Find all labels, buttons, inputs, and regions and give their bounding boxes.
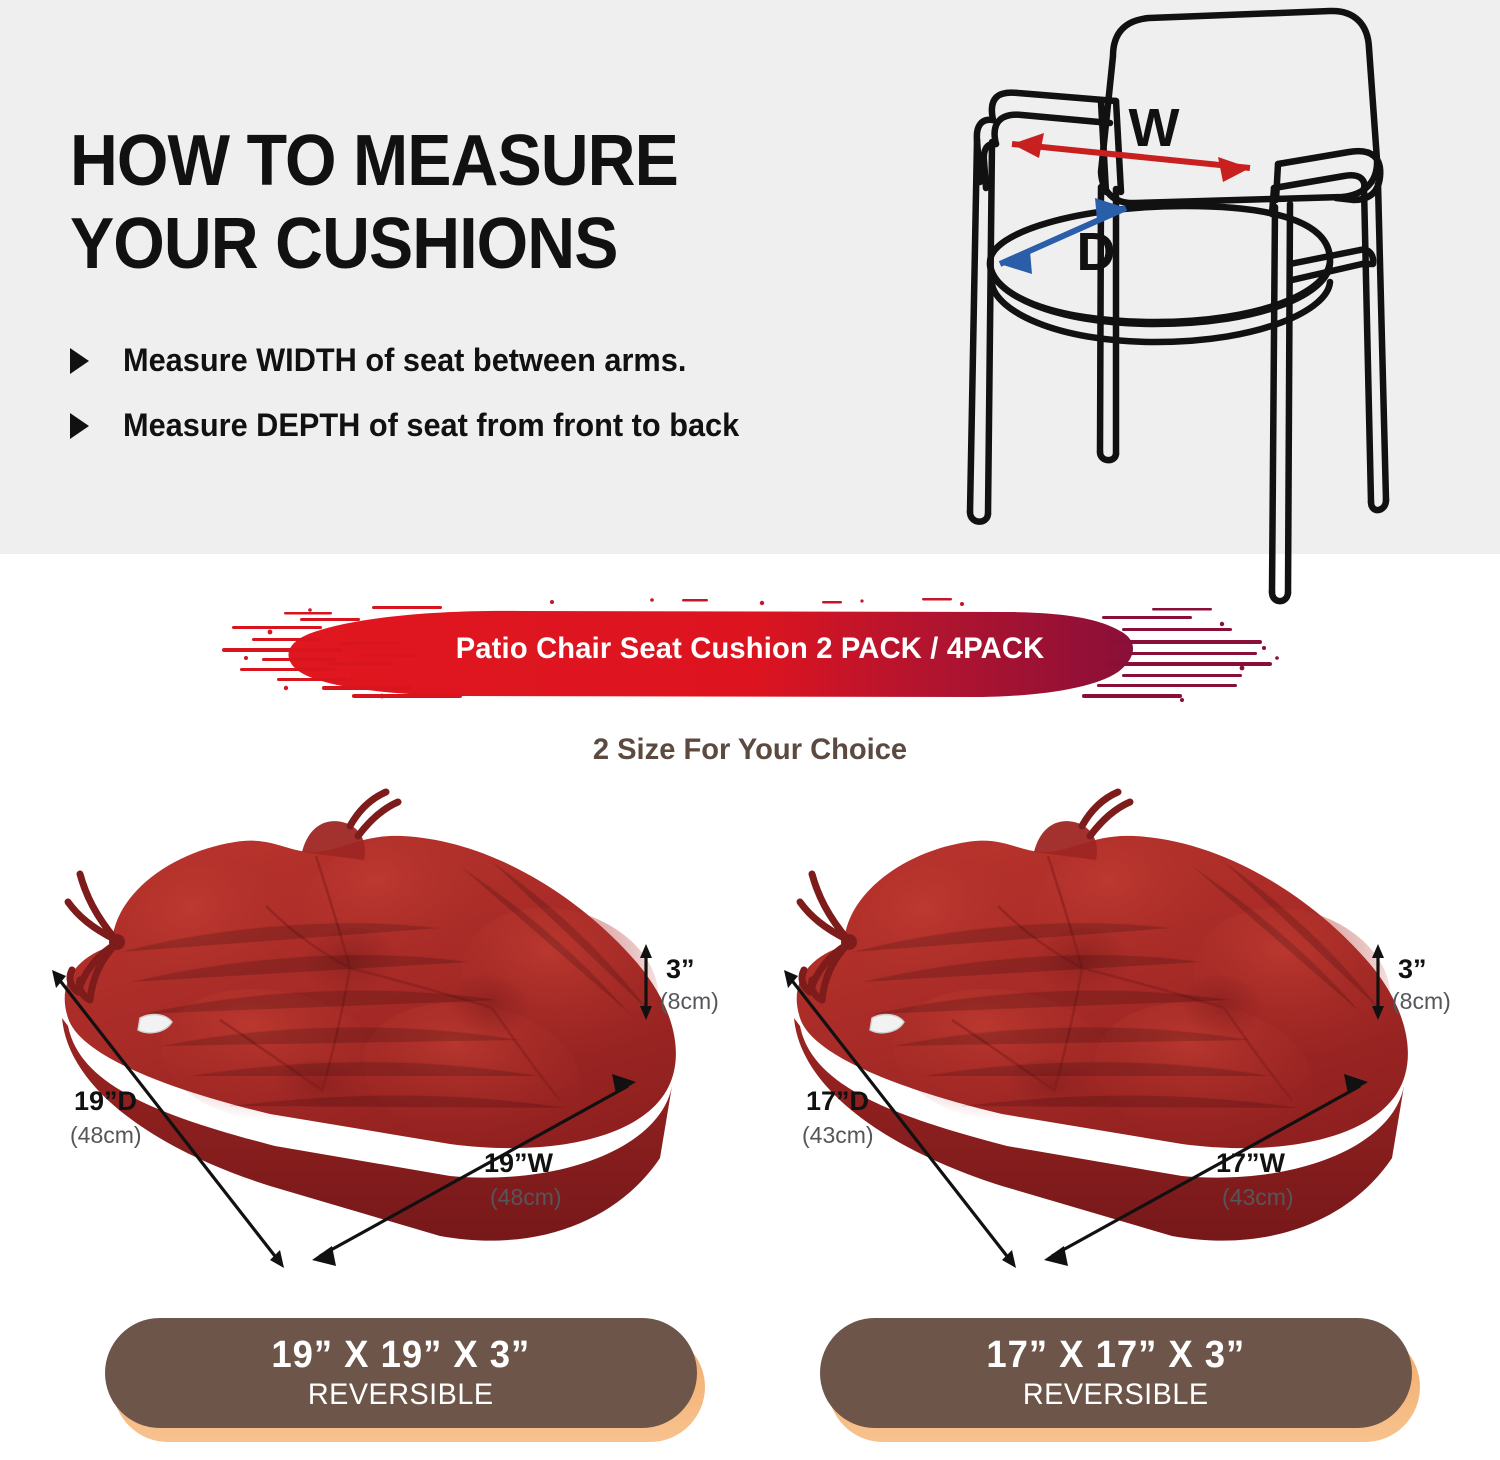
chair-measurement-diagram: W D xyxy=(930,0,1500,612)
triangle-bullet-icon xyxy=(70,413,89,439)
product-card-17inch: 3” (8cm) 17”W (43cm) 17”D (43cm) xyxy=(752,756,1492,1286)
triangle-bullet-icon xyxy=(70,348,89,374)
instruction-list: Measure WIDTH of seat between arms. Meas… xyxy=(70,342,900,444)
depth-label: 19”D xyxy=(74,1086,137,1117)
height-label: 3” xyxy=(666,954,695,985)
height-metric: (8cm) xyxy=(660,988,719,1015)
hero-text-block: HOW TO MEASURE YOUR CUSHIONS Measure WID… xyxy=(70,120,900,472)
banner-title: Patio Chair Seat Cushion 2 PACK / 4PACK xyxy=(23,632,1478,666)
width-letter-label: W xyxy=(1129,98,1180,158)
size-text: 17” X 17” X 3” xyxy=(987,1333,1246,1377)
reversible-text: REVERSIBLE xyxy=(1023,1377,1209,1413)
depth-metric: (43cm) xyxy=(802,1122,874,1149)
size-badge-17inch[interactable]: 17” X 17” X 3” REVERSIBLE xyxy=(820,1318,1420,1443)
list-item: Measure WIDTH of seat between arms. xyxy=(70,342,900,379)
cushion-image-19inch xyxy=(20,756,760,1286)
width-metric: (43cm) xyxy=(1222,1184,1294,1211)
size-badge-19inch[interactable]: 19” X 19” X 3” REVERSIBLE xyxy=(105,1318,705,1443)
list-item: Measure DEPTH of seat from front to back xyxy=(70,407,900,444)
pill-body[interactable]: 19” X 19” X 3” REVERSIBLE xyxy=(105,1318,697,1428)
height-metric: (8cm) xyxy=(1392,988,1451,1015)
depth-letter-label: D xyxy=(1077,222,1116,282)
pill-body[interactable]: 17” X 17” X 3” REVERSIBLE xyxy=(820,1318,1412,1428)
size-text: 19” X 19” X 3” xyxy=(272,1333,531,1377)
cushion-image-17inch xyxy=(752,756,1492,1286)
width-label: 17”W xyxy=(1216,1148,1285,1179)
product-card-19inch: 3” (8cm) 19”W (48cm) 19”D (48cm) xyxy=(20,756,760,1286)
depth-metric: (48cm) xyxy=(70,1122,142,1149)
width-label: 19”W xyxy=(484,1148,553,1179)
width-metric: (48cm) xyxy=(490,1184,562,1211)
height-label: 3” xyxy=(1398,954,1427,985)
page-title: HOW TO MEASURE YOUR CUSHIONS xyxy=(70,120,834,286)
depth-label: 17”D xyxy=(806,1086,869,1117)
instruction-text: Measure DEPTH of seat from front to back xyxy=(123,407,739,444)
product-banner: Patio Chair Seat Cushion 2 PACK / 4PACK xyxy=(0,596,1500,736)
instruction-text: Measure WIDTH of seat between arms. xyxy=(123,342,686,379)
reversible-text: REVERSIBLE xyxy=(308,1377,494,1413)
